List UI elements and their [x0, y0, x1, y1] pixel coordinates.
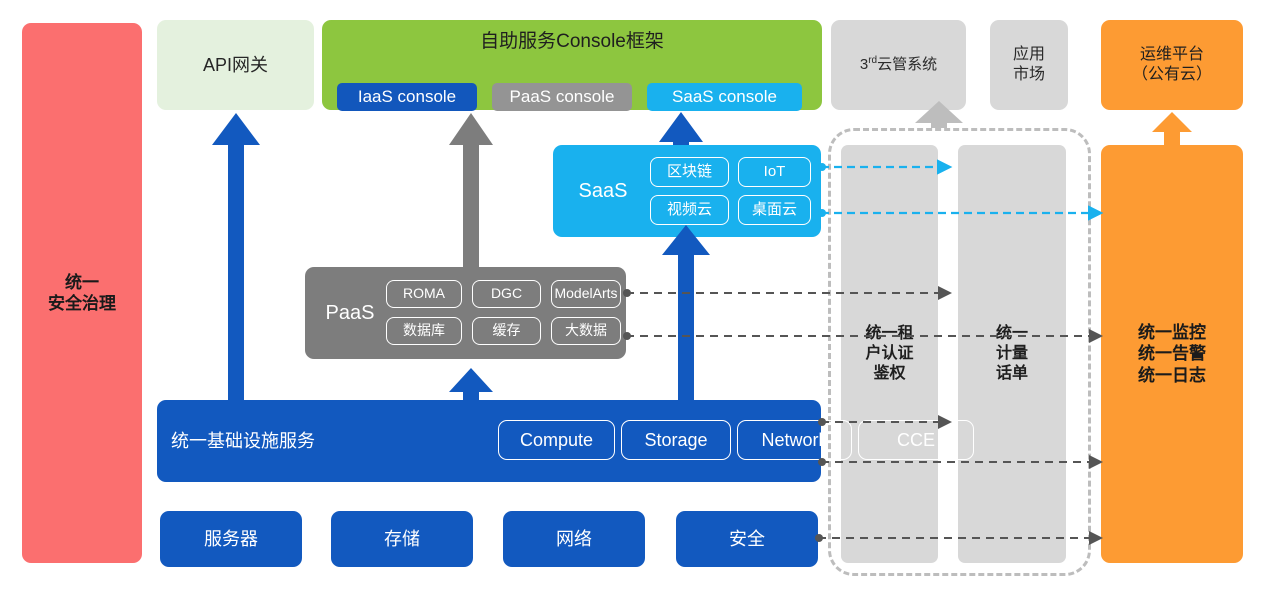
- paas-item-roma[interactable]: ROMA: [386, 280, 462, 308]
- resource-box-security[interactable]: 安全: [676, 511, 818, 567]
- paas-item-bigdata[interactable]: 大数据: [551, 317, 621, 345]
- ops-monitoring-label: 统一监控统一告警统一日志: [1138, 322, 1206, 386]
- security-governance-panel: 统一安全治理: [22, 23, 142, 563]
- iaas-console-chip[interactable]: IaaS console: [337, 83, 477, 111]
- third-party-prefix: 3: [860, 56, 868, 73]
- paas-item-cache[interactable]: 缓存: [472, 317, 541, 345]
- ops-monitoring-panel: 统一监控统一告警统一日志: [1101, 145, 1243, 563]
- unified-metering-label: 统一计量话单: [996, 324, 1028, 384]
- paas-layer-box: PaaS ROMA DGC ModelArts 数据库 缓存 大数据: [305, 267, 626, 359]
- arrow-ops-panel-to-ops-platform: [1152, 112, 1192, 145]
- app-market-label: 应用市场: [1013, 45, 1045, 85]
- arrow-infra-to-api-gateway: [212, 113, 260, 400]
- security-governance-label: 统一安全治理: [48, 272, 116, 315]
- unified-metering-column: 统一计量话单: [958, 145, 1066, 563]
- arrow-paas-to-console: [449, 113, 493, 267]
- paas-layer-label: PaaS: [311, 267, 389, 359]
- resource-box-server[interactable]: 服务器: [160, 511, 302, 567]
- unified-tenant-auth-label: 统一租户认证鉴权: [865, 324, 913, 384]
- saas-item-iot[interactable]: IoT: [738, 157, 811, 187]
- arrow-saas-to-console: [659, 112, 703, 145]
- saas-item-blockchain[interactable]: 区块链: [650, 157, 729, 187]
- resource-box-storage[interactable]: 存储: [331, 511, 473, 567]
- third-party-cloud-label: 3rd云管系统: [860, 55, 937, 75]
- console-framework-box: 自助服务Console框架 IaaS console PaaS console …: [322, 20, 822, 110]
- paas-item-dgc[interactable]: DGC: [472, 280, 541, 308]
- saas-layer-box: SaaS 区块链 IoT 视频云 桌面云: [553, 145, 821, 237]
- arrow-infra-to-saas: [662, 225, 710, 400]
- unified-tenant-auth-column: 统一租户认证鉴权: [841, 145, 938, 563]
- resource-box-network[interactable]: 网络: [503, 511, 645, 567]
- paas-item-modelarts[interactable]: ModelArts: [551, 280, 621, 308]
- architecture-diagram: 统一安全治理 API网关 自助服务Console框架 IaaS console …: [0, 0, 1265, 605]
- third-party-cloud-box: 3rd云管系统: [831, 20, 966, 110]
- paas-item-database[interactable]: 数据库: [386, 317, 462, 345]
- paas-console-chip[interactable]: PaaS console: [492, 83, 632, 111]
- infra-item-network[interactable]: Network: [737, 420, 852, 460]
- api-gateway-box: API网关: [157, 20, 314, 110]
- third-party-suffix: 云管系统: [877, 56, 937, 73]
- ops-platform-box: 运维平台（公有云）: [1101, 20, 1243, 110]
- infra-item-compute[interactable]: Compute: [498, 420, 615, 460]
- unified-infrastructure-box: 统一基础设施服务 Compute Storage Network CCE: [157, 400, 821, 482]
- console-framework-title: 自助服务Console框架: [322, 20, 822, 64]
- infra-item-cce[interactable]: CCE: [858, 420, 974, 460]
- saas-item-video-cloud[interactable]: 视频云: [650, 195, 729, 225]
- unified-infrastructure-label: 统一基础设施服务: [171, 400, 315, 482]
- app-market-box: 应用市场: [990, 20, 1068, 110]
- saas-layer-label: SaaS: [563, 145, 643, 237]
- arrow-infra-to-paas: [449, 368, 493, 400]
- saas-console-chip[interactable]: SaaS console: [647, 83, 802, 111]
- infra-item-storage[interactable]: Storage: [621, 420, 731, 460]
- api-gateway-label: API网关: [203, 54, 268, 77]
- saas-item-desktop-cloud[interactable]: 桌面云: [738, 195, 811, 225]
- third-party-superscript: rd: [868, 55, 877, 66]
- ops-platform-label: 运维平台（公有云）: [1132, 45, 1212, 85]
